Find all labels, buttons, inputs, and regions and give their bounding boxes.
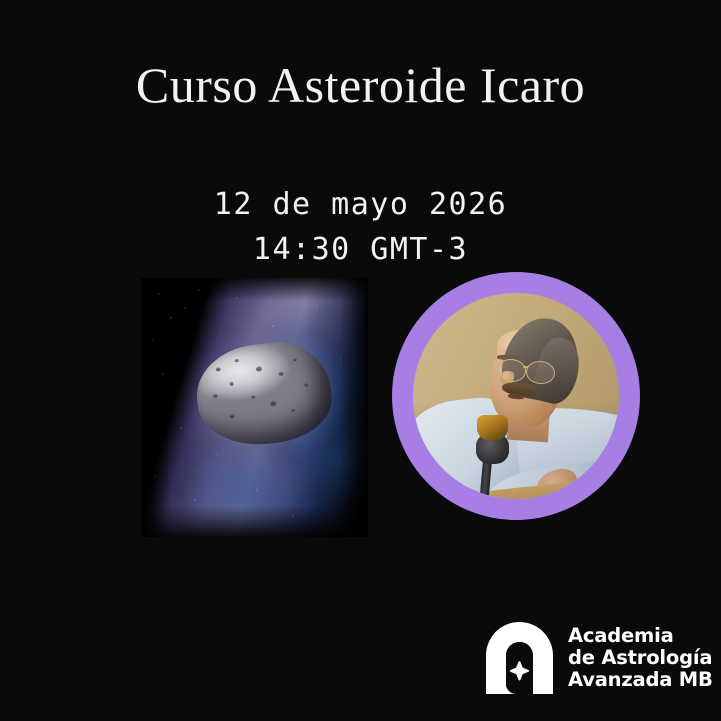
page-title: Curso Asteroide Icaro <box>0 58 721 113</box>
speaker-portrait-ring <box>392 272 640 520</box>
microphone-head-icon <box>477 415 508 442</box>
portrait-glasses-bridge <box>523 365 528 367</box>
brand-line-2: de Astrología <box>568 647 713 669</box>
event-date: 12 de mayo 2026 <box>0 182 721 227</box>
asteroid-image <box>141 278 368 537</box>
event-time: 14:30 GMT-3 <box>0 227 721 272</box>
brand-line-3: Avanzada MB <box>568 669 713 691</box>
poster-canvas: Curso Asteroide Icaro 12 de mayo 2026 14… <box>0 0 721 721</box>
brand-logo: Academia de Astrología Avanzada MB <box>486 622 713 694</box>
speaker-portrait-photo <box>413 293 619 499</box>
brand-line-1: Academia <box>568 625 713 647</box>
brand-logo-text: Academia de Astrología Avanzada MB <box>568 625 713 691</box>
event-datetime: 12 de mayo 2026 14:30 GMT-3 <box>0 182 721 272</box>
asteroid-vignette <box>141 278 368 537</box>
arch-star-logo-icon <box>486 622 553 694</box>
